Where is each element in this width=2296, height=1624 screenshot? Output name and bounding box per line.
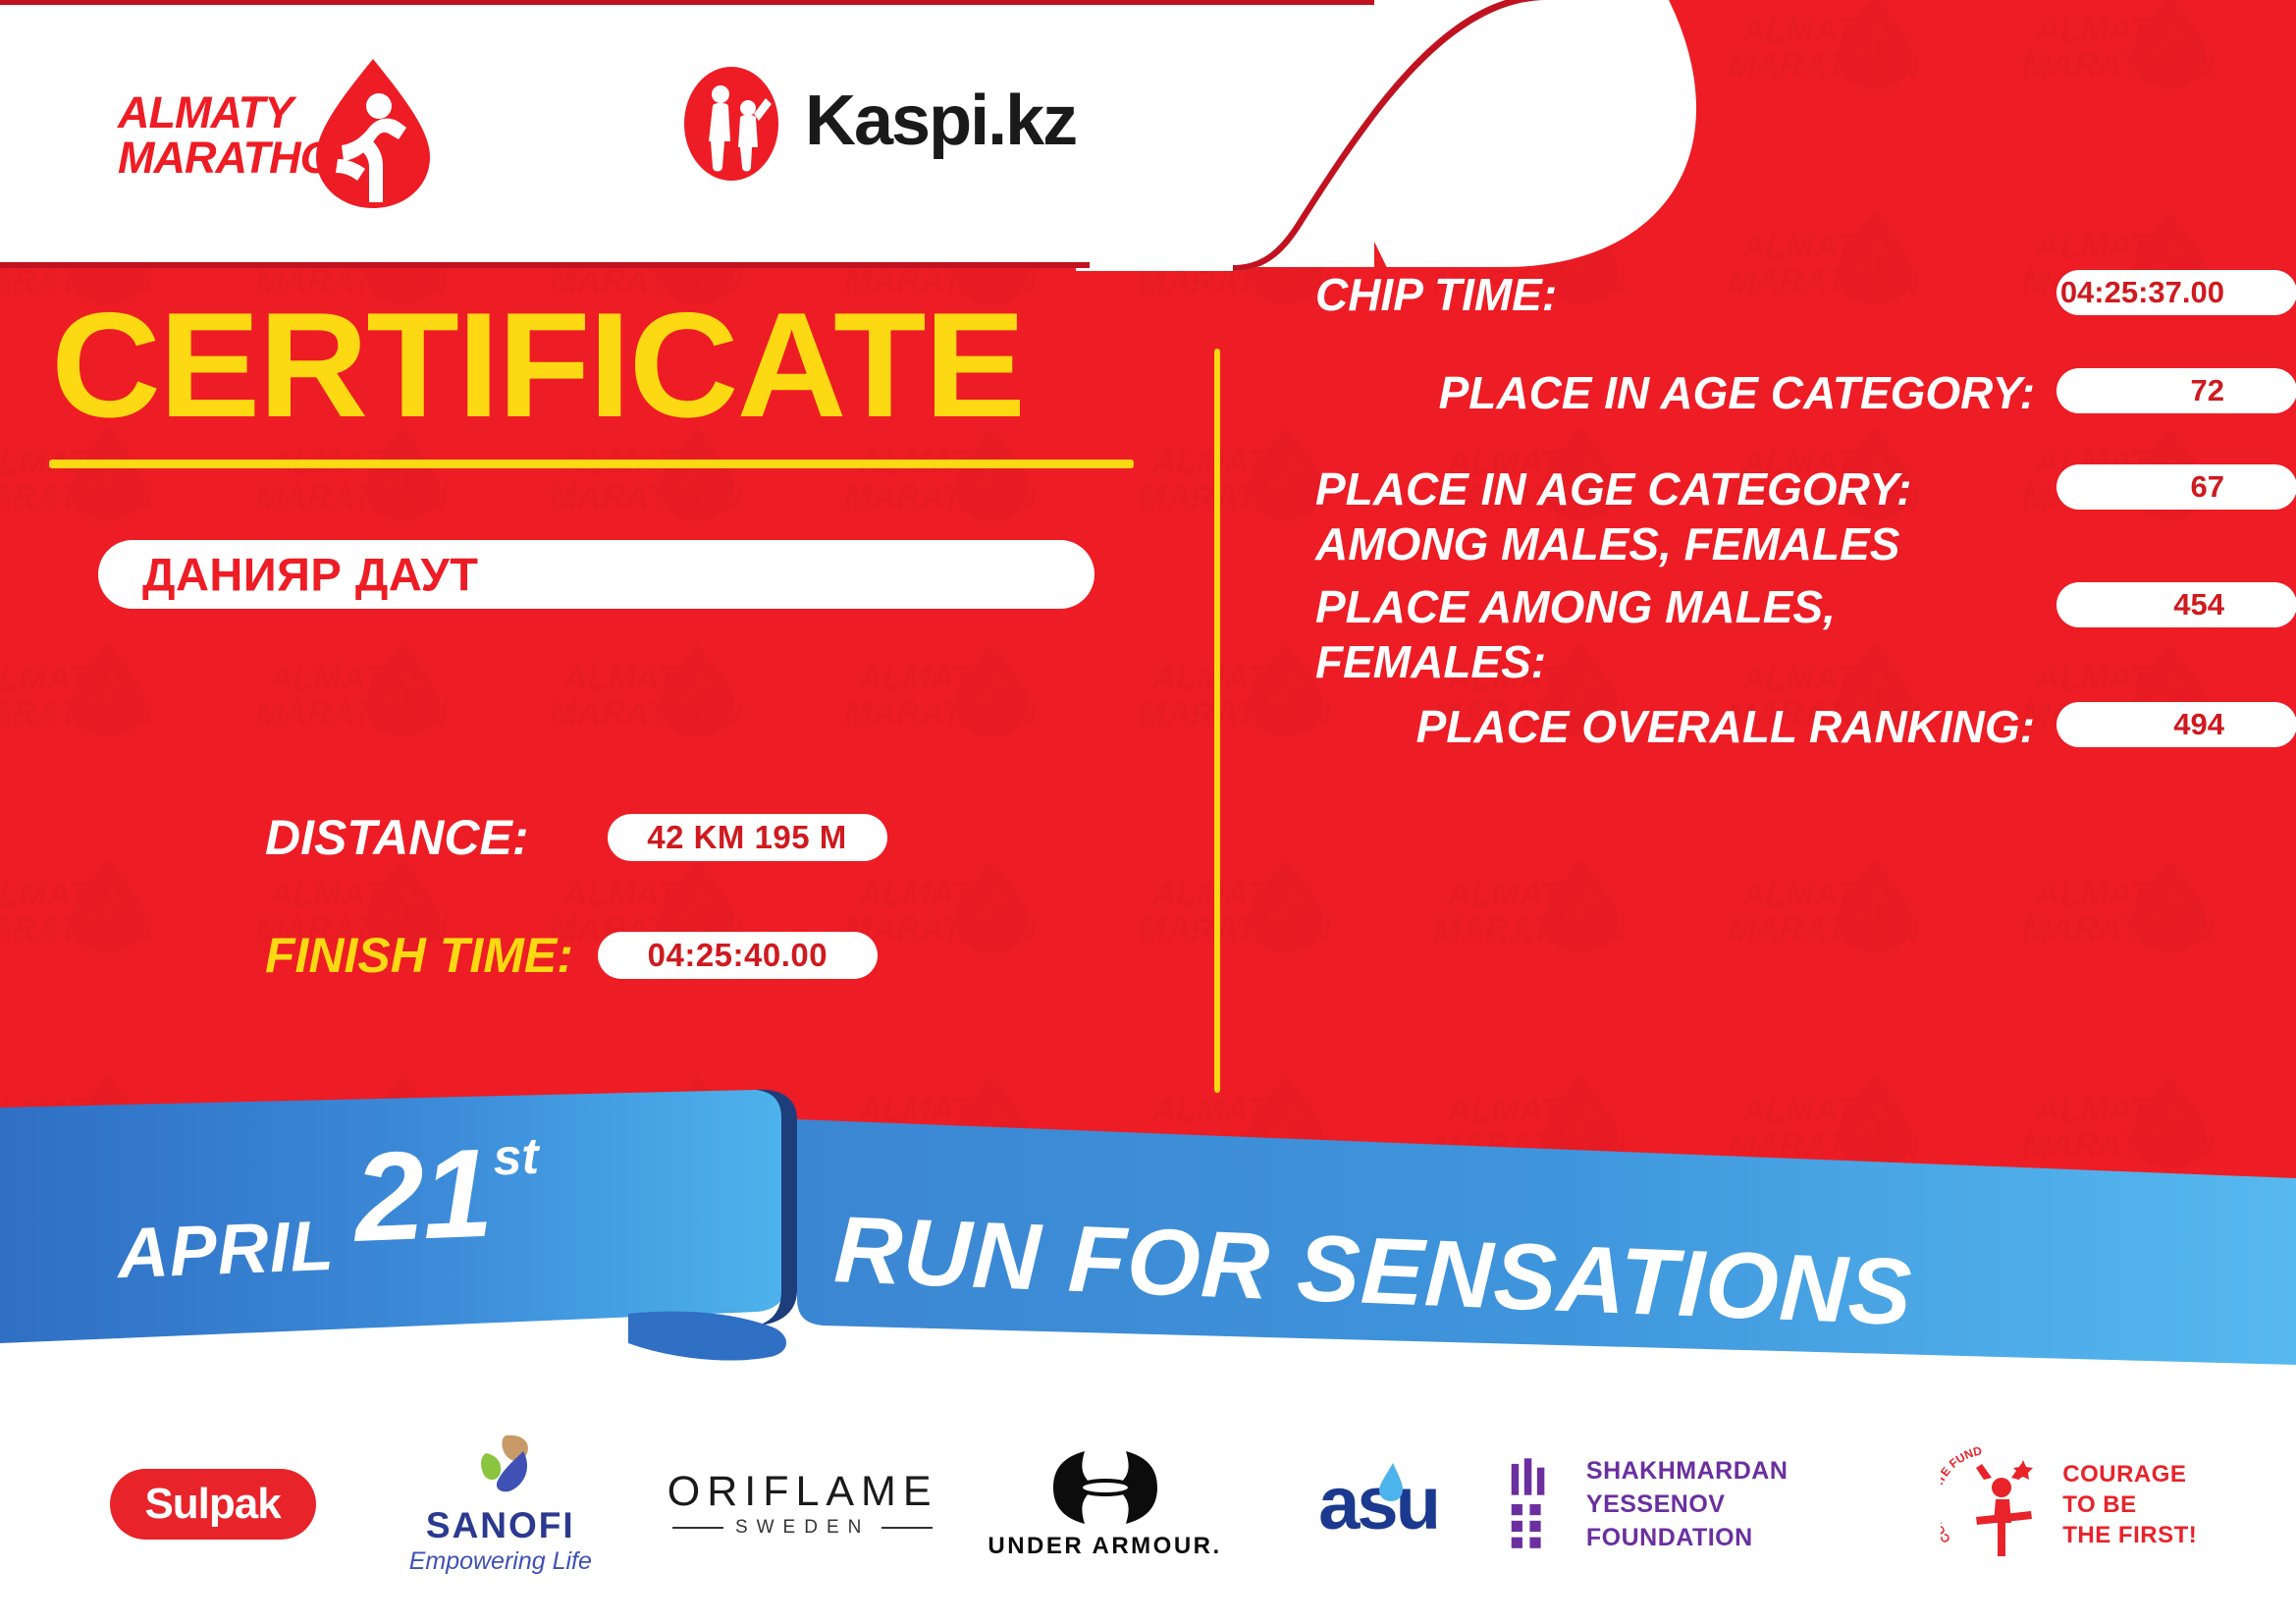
finish-time-value-pill: 04:25:40.00 — [598, 932, 878, 979]
place-overall-value-pill: 494 — [2056, 702, 2296, 747]
yessenov-name: SHAKHMARDAN YESSENOV FOUNDATION — [1586, 1454, 1911, 1554]
under-armour-logo: UNDER ARMOUR. — [988, 1447, 1221, 1561]
place-age-category-label: PLACE IN AGE CATEGORY: — [1315, 365, 2035, 420]
result-row-place-age-category: PLACE IN AGE CATEGORY: 72 — [1315, 365, 2296, 420]
place-among-gender-value: 454 — [2173, 587, 2224, 623]
courage-name-line2: TO BE — [2062, 1489, 2197, 1520]
under-armour-mark-icon — [1041, 1447, 1169, 1528]
place-among-gender-label-line1: PLACE AMONG MALES, — [1315, 579, 2035, 634]
oriflame-rule-right — [881, 1527, 933, 1529]
oriflame-sub-wrap: SWEDEN — [667, 1515, 938, 1541]
finish-time-label: FINISH TIME: — [265, 927, 573, 984]
oriflame-name: ORIFLAME — [667, 1468, 938, 1515]
sponsor-asu: asu — [1249, 1435, 1508, 1573]
distance-row: DISTANCE: 42 KM 195 M — [265, 809, 887, 866]
kaspi-wordmark: Kaspi.kz — [805, 81, 1076, 161]
ribbon-day: 21 — [351, 1121, 493, 1271]
finish-time-value: 04:25:40.00 — [648, 937, 828, 974]
column-divider — [1214, 349, 1220, 1093]
oriflame-sub: SWEDEN — [735, 1515, 870, 1541]
result-row-place-overall: PLACE OVERALL RANKING: 494 — [1315, 699, 2296, 754]
athlete-name-field: ДАНИЯР ДАУТ — [98, 540, 1095, 609]
finish-time-row: FINISH TIME: 04:25:40.00 — [265, 927, 878, 984]
yessenov-mark-icon — [1508, 1455, 1565, 1553]
sanofi-tagline: Empowering Life — [409, 1545, 592, 1577]
place-age-category-gender-value-pill: 67 — [2056, 464, 2296, 510]
svg-text:CORPORATE FUND: CORPORATE FUND — [1941, 1446, 1984, 1545]
sponsor-courage-fund: CORPORATE FUND COURAGE TO BE THE FIRST! — [1910, 1435, 2227, 1573]
ribbon-day-suffix: st — [492, 1127, 540, 1188]
distance-label: DISTANCE: — [265, 809, 529, 866]
courage-logo: CORPORATE FUND COURAGE TO BE THE FIRST! — [1941, 1446, 2197, 1562]
courage-name-line3: THE FIRST! — [2062, 1520, 2197, 1550]
place-age-category-gender-label-line1: PLACE IN AGE CATEGORY: — [1315, 461, 2035, 516]
certificate-canvas: ALMATY MARATHON Kaspi.kz — [0, 0, 2296, 1624]
yessenov-logo: SHAKHMARDAN YESSENOV FOUNDATION — [1508, 1454, 1910, 1554]
place-age-category-gender-label: PLACE IN AGE CATEGORY: AMONG MALES, FEMA… — [1315, 461, 2035, 571]
place-among-gender-label-line2: FEMALES: — [1315, 634, 2035, 689]
place-age-category-value-pill: 72 — [2056, 368, 2296, 413]
sponsor-sulpak: Sulpak — [69, 1435, 356, 1573]
runner-drop-icon — [304, 55, 442, 212]
sponsor-bar: Sulpak SANOFI Empowering Life ORIFLAME S… — [0, 1384, 2296, 1624]
under-armour-name: UNDER ARMOUR. — [988, 1532, 1221, 1561]
ribbon-month: APRIL — [116, 1206, 336, 1294]
sponsor-under-armour: UNDER ARMOUR. — [961, 1435, 1249, 1573]
sponsor-sanofi: SANOFI Empowering Life — [356, 1435, 644, 1573]
courage-figure-icon: CORPORATE FUND — [1941, 1446, 2049, 1562]
yessenov-name-line2: FOUNDATION — [1586, 1521, 1911, 1554]
place-among-gender-label: PLACE AMONG MALES, FEMALES: — [1315, 579, 2035, 689]
place-overall-label: PLACE OVERALL RANKING: — [1315, 699, 2035, 754]
oriflame-logo: ORIFLAME SWEDEN — [667, 1468, 938, 1541]
courage-name: COURAGE TO BE THE FIRST! — [2062, 1459, 2197, 1550]
sulpak-name: Sulpak — [144, 1480, 280, 1529]
logo-row: ALMATY MARATHON Kaspi.kz — [0, 0, 1178, 267]
sanofi-logo: SANOFI Empowering Life — [409, 1432, 592, 1577]
courage-name-line1: COURAGE — [2062, 1459, 2197, 1489]
sanofi-mark-icon — [456, 1432, 545, 1502]
sulpak-logo: Sulpak — [110, 1469, 316, 1540]
athlete-name: ДАНИЯР ДАУТ — [142, 548, 478, 602]
place-among-gender-value-pill: 454 — [2056, 582, 2296, 627]
courage-arc-text: CORPORATE FUND — [1941, 1446, 1984, 1545]
result-row-place-age-category-gender: PLACE IN AGE CATEGORY: AMONG MALES, FEMA… — [1315, 461, 2296, 571]
asu-logo: asu — [1318, 1465, 1438, 1543]
event-ribbon: APRIL 21 st RUN FOR SENSATIONS — [0, 1080, 2296, 1384]
distance-value-pill: 42 KM 195 M — [608, 814, 887, 861]
place-age-category-gender-value: 67 — [2191, 469, 2224, 505]
kaspi-people-icon — [677, 65, 785, 183]
ribbon-date: APRIL 21 st — [113, 1119, 543, 1294]
sponsor-yessenov-foundation: SHAKHMARDAN YESSENOV FOUNDATION — [1508, 1435, 1910, 1573]
distance-value: 42 KM 195 M — [647, 819, 847, 856]
sanofi-name: SANOFI — [409, 1506, 592, 1545]
yessenov-name-line1: SHAKHMARDAN YESSENOV — [1586, 1454, 1911, 1521]
result-row-chip-time: CHIP TIME: 04:25:37.00 — [1315, 267, 2296, 322]
oriflame-rule-left — [672, 1527, 723, 1529]
chip-time-value-pill: 04:25:37.00 — [2056, 270, 2296, 315]
place-age-category-value: 72 — [2191, 373, 2224, 408]
chip-time-value: 04:25:37.00 — [2060, 275, 2224, 310]
place-overall-value: 494 — [2173, 707, 2224, 742]
almaty-marathon-logo: ALMATY MARATHON — [118, 47, 442, 204]
result-row-place-among-gender: PLACE AMONG MALES, FEMALES: 454 — [1315, 579, 2296, 689]
sponsor-oriflame: ORIFLAME SWEDEN — [644, 1435, 961, 1573]
page-title: CERTIFICATE — [51, 287, 1162, 444]
chip-time-label: CHIP TIME: — [1315, 267, 2035, 322]
asu-droplet-icon — [1375, 1461, 1405, 1502]
kaspi-logo: Kaspi.kz — [677, 57, 1090, 194]
place-age-category-gender-label-line2: AMONG MALES, FEMALES — [1315, 516, 2035, 571]
title-underline — [49, 460, 1134, 468]
